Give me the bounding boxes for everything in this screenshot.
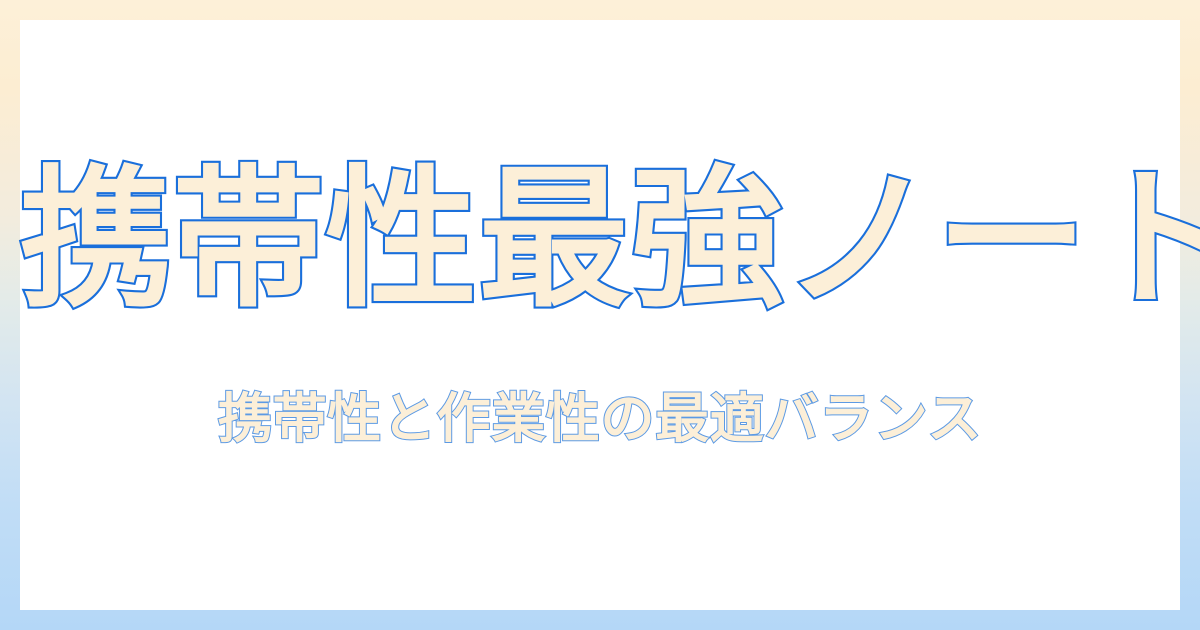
page-subtitle: 携帯性と作業性の最適バランス — [218, 388, 982, 450]
card-inner-panel: 携帯性最強ノート 携帯性と作業性の最適バランス — [20, 20, 1180, 610]
subtitle-container: 携帯性と作業性の最適バランス — [20, 388, 1180, 450]
page-title: 携帯性最強ノート — [20, 160, 1200, 320]
title-container: 携帯性最強ノート — [20, 160, 1180, 320]
promo-card-canvas: 携帯性最強ノート 携帯性と作業性の最適バランス — [0, 0, 1200, 630]
